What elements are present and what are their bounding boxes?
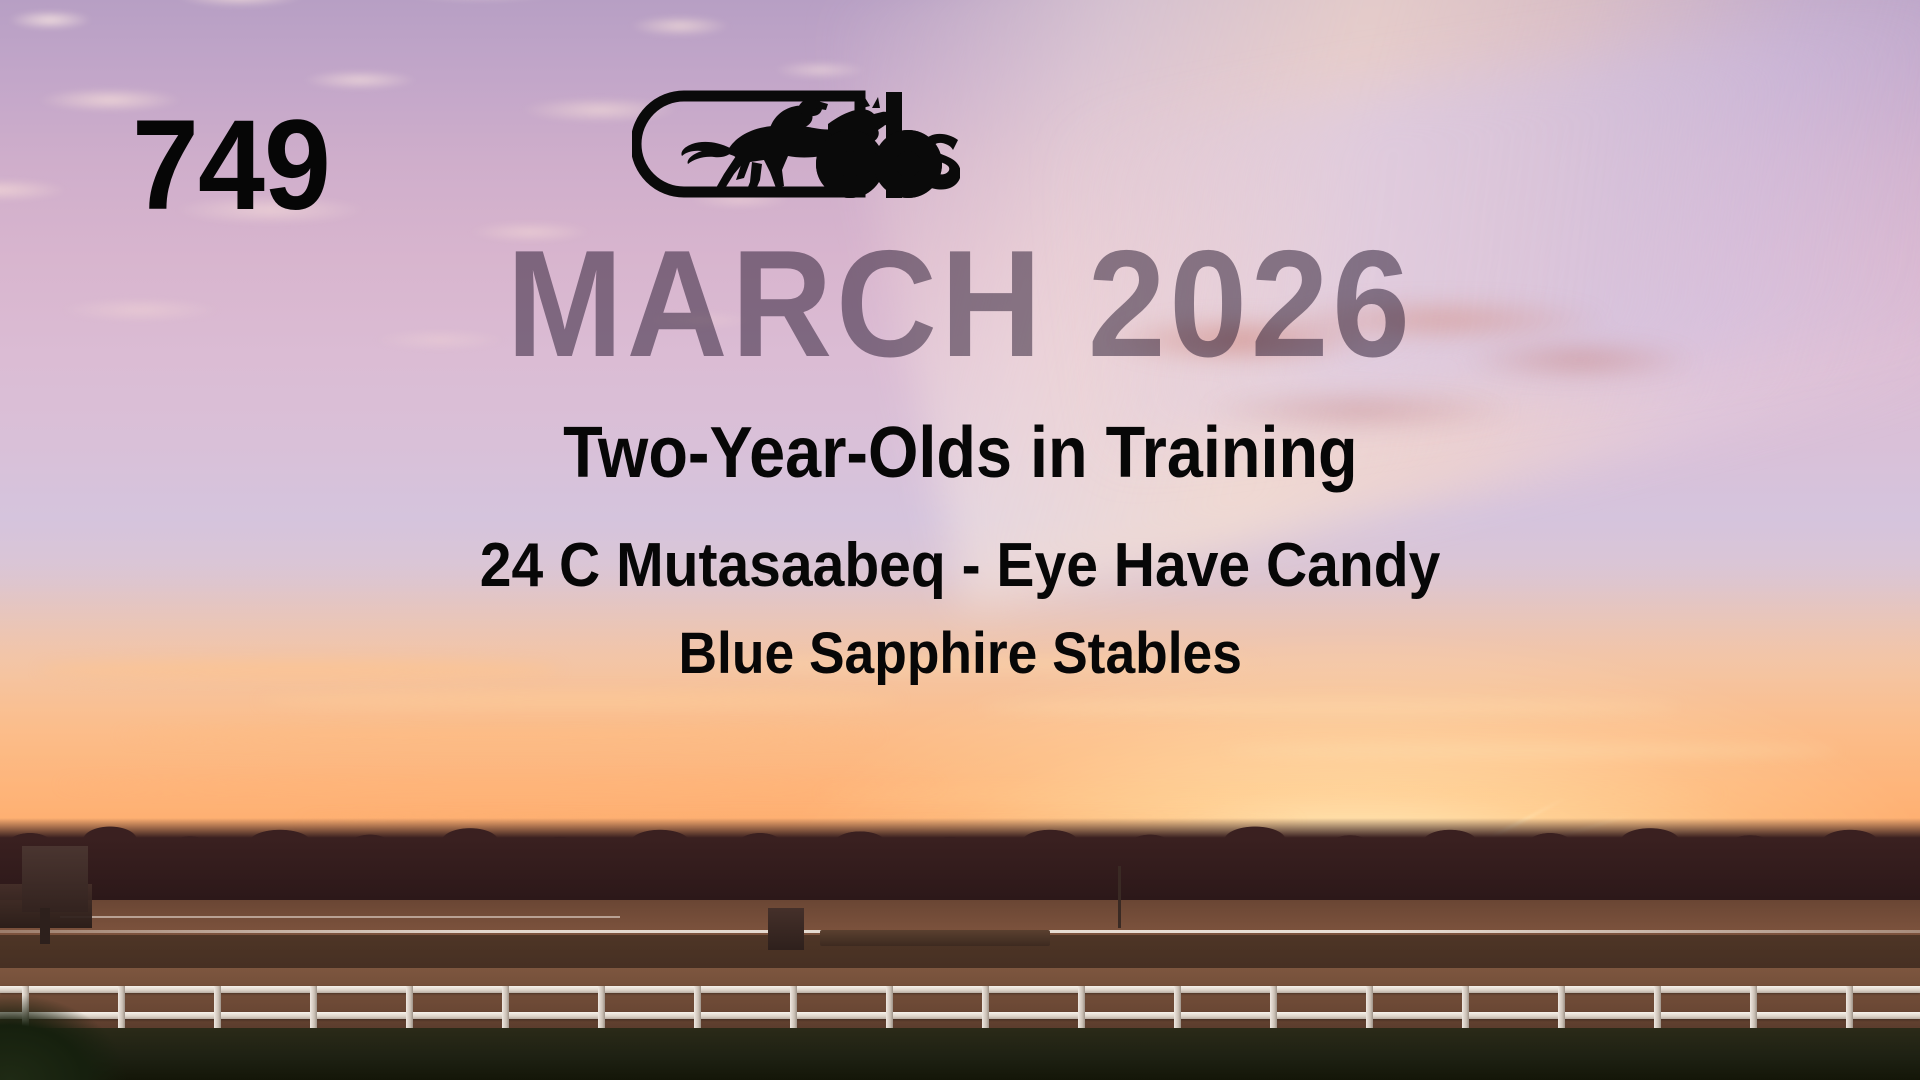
obs-logo <box>632 78 960 210</box>
consignor-line: Blue Sapphire Stables <box>0 625 1920 683</box>
foreground-grass <box>0 1028 1920 1080</box>
low-stratus-streaks <box>0 560 1920 860</box>
left-foreground-shrubs <box>0 960 140 1080</box>
hip-number: 749 <box>132 102 330 230</box>
sale-type: Two-Year-Olds in Training <box>0 417 1920 489</box>
pedigree-text: 24 C Mutasaabeq - Eye Have Candy <box>480 535 1441 597</box>
tote-board <box>22 846 88 912</box>
sale-catalog-card: 749 <box>0 0 1920 1080</box>
far-inner-rail-segment <box>60 916 620 918</box>
light-pole <box>1118 866 1121 928</box>
tote-board-support <box>40 908 50 944</box>
consignor-text: Blue Sapphire Stables <box>678 625 1241 683</box>
sale-type-text: Two-Year-Olds in Training <box>563 417 1358 489</box>
sale-month-year: MARCH 2026 <box>0 228 1920 380</box>
sale-month-year-text: MARCH 2026 <box>506 228 1413 380</box>
obs-letter-counters <box>837 151 863 177</box>
pedigree-line: 24 C Mutasaabeq - Eye Have Candy <box>0 535 1920 597</box>
treeline-silhouette <box>0 818 1920 908</box>
infield-barn <box>820 930 1050 946</box>
starting-gate <box>768 908 804 950</box>
